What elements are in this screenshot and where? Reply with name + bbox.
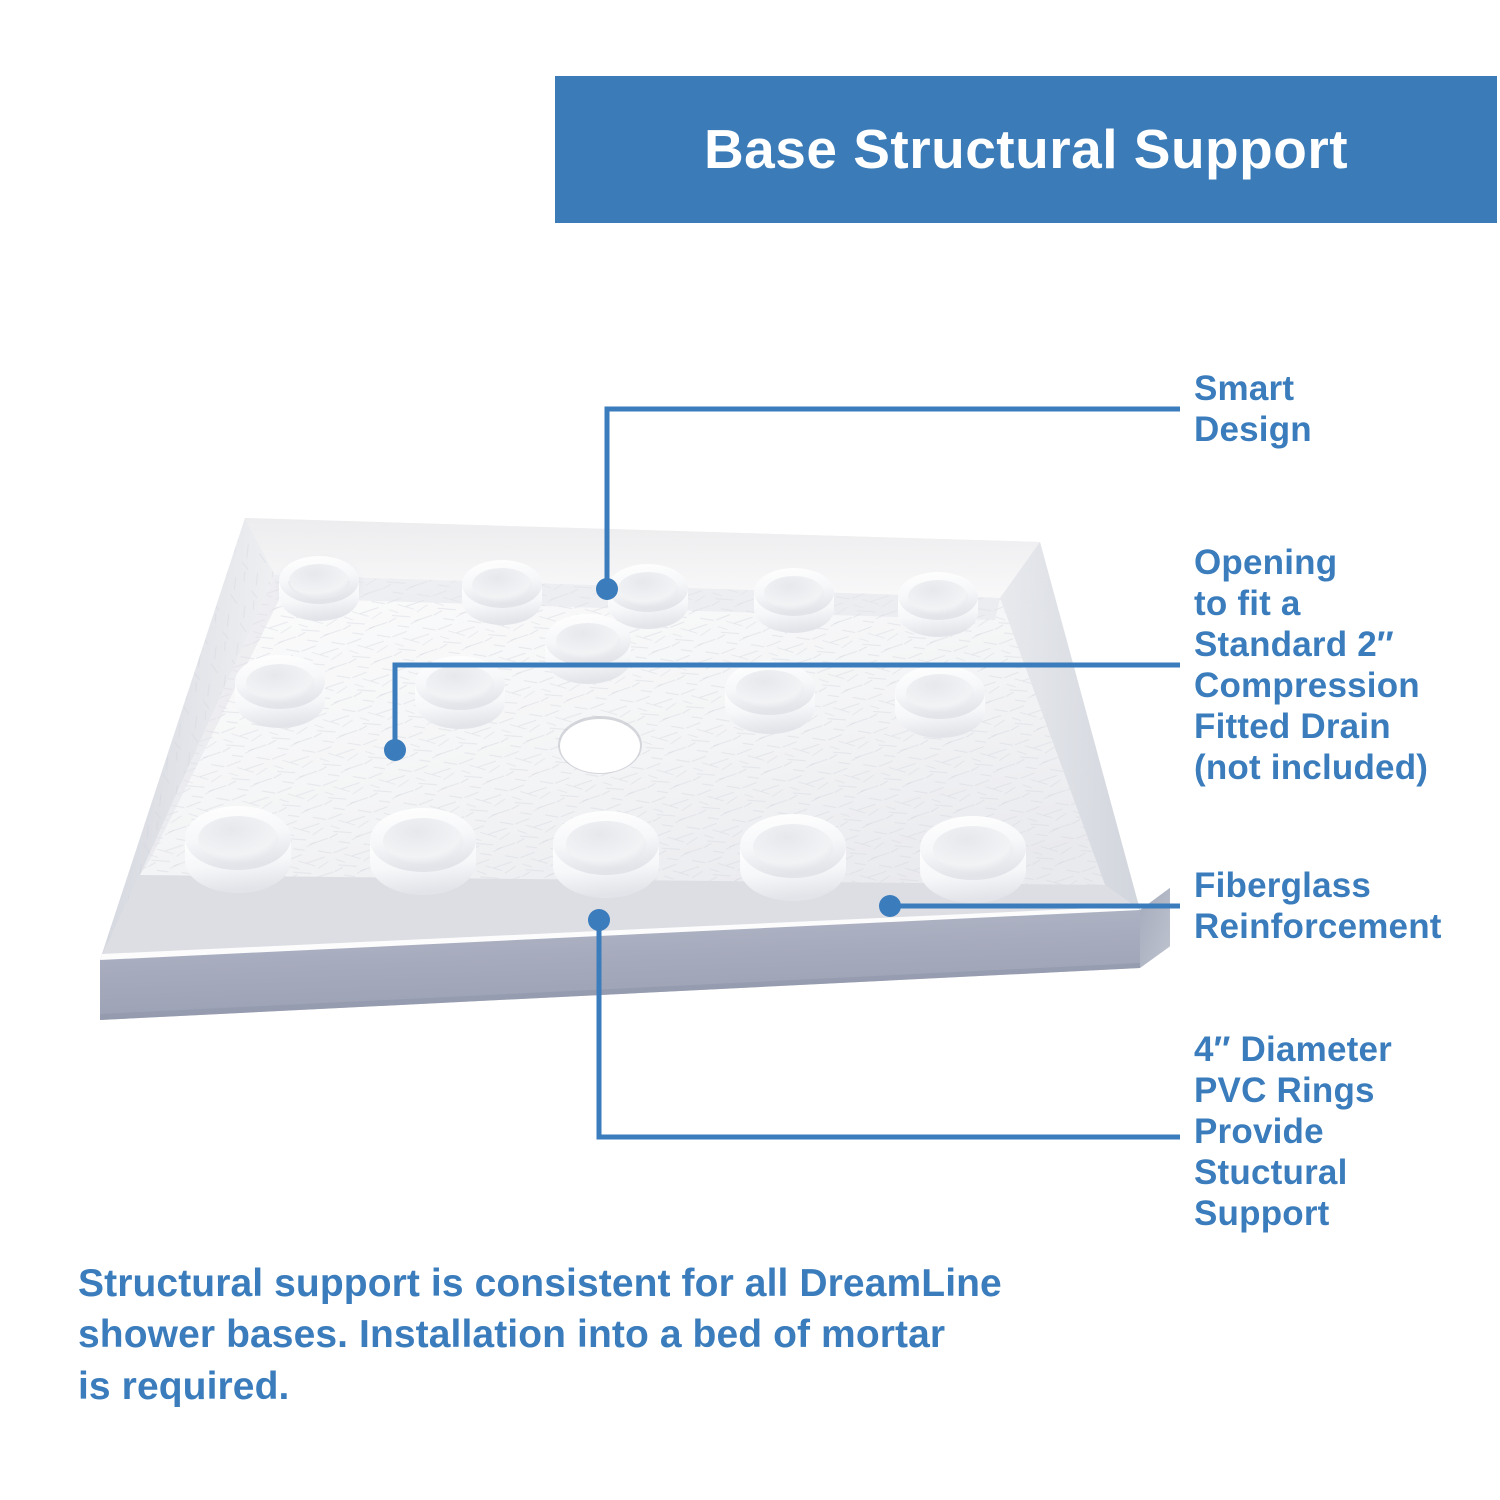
shower-base-svg [40,480,1170,1025]
pvc-ring [553,811,659,898]
product-illustration [40,480,1170,1025]
pvc-ring [279,556,359,621]
pvc-ring [725,661,815,734]
footer-note: Structural support is consistent for all… [78,1258,1018,1412]
callout-label-fiberglass: Fiberglass Reinforcement [1194,866,1494,948]
callout-label-opening: Opening to fit a Standard 2″ Compression… [1194,543,1500,789]
pvc-ring [235,655,325,728]
pvc-ring [415,656,505,729]
pvc-ring [740,814,846,901]
page-title: Base Structural Support [704,122,1348,177]
pvc-ring [370,808,476,895]
callout-label-smart-design: Smart Design [1194,369,1494,451]
pvc-ring [185,806,291,893]
drain-opening [558,716,642,774]
callout-label-pvc-rings: 4″ Diameter PVC Rings Provide Stuctural … [1194,1030,1494,1235]
pvc-ring [895,665,985,738]
pvc-ring [462,560,542,625]
pvc-ring [545,614,631,684]
pvc-ring [920,816,1026,903]
pvc-ring [608,564,688,629]
pvc-ring [754,568,834,633]
pvc-ring [898,572,978,637]
header-banner: Base Structural Support [555,76,1497,223]
